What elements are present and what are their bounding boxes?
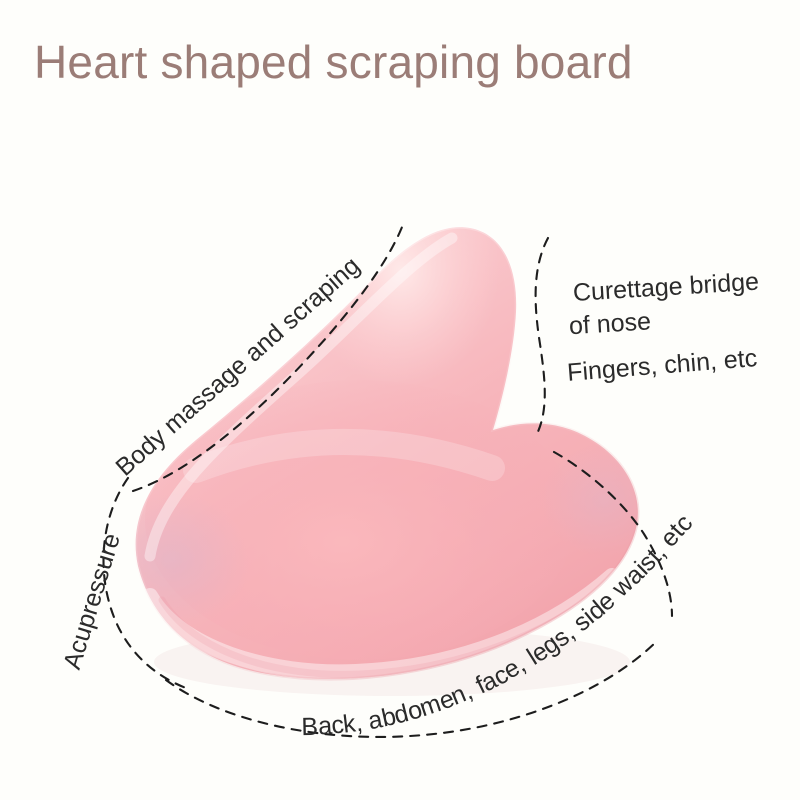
callout-bottom-arc-char: B	[301, 713, 318, 742]
callout-bottom-arc: Back, abdomen, face, legs, side waist, e…	[0, 0, 800, 800]
product-illustration: Body massage and scraping Acupressure Cu…	[0, 0, 800, 800]
product-infographic: Heart shaped scraping board	[0, 0, 800, 800]
